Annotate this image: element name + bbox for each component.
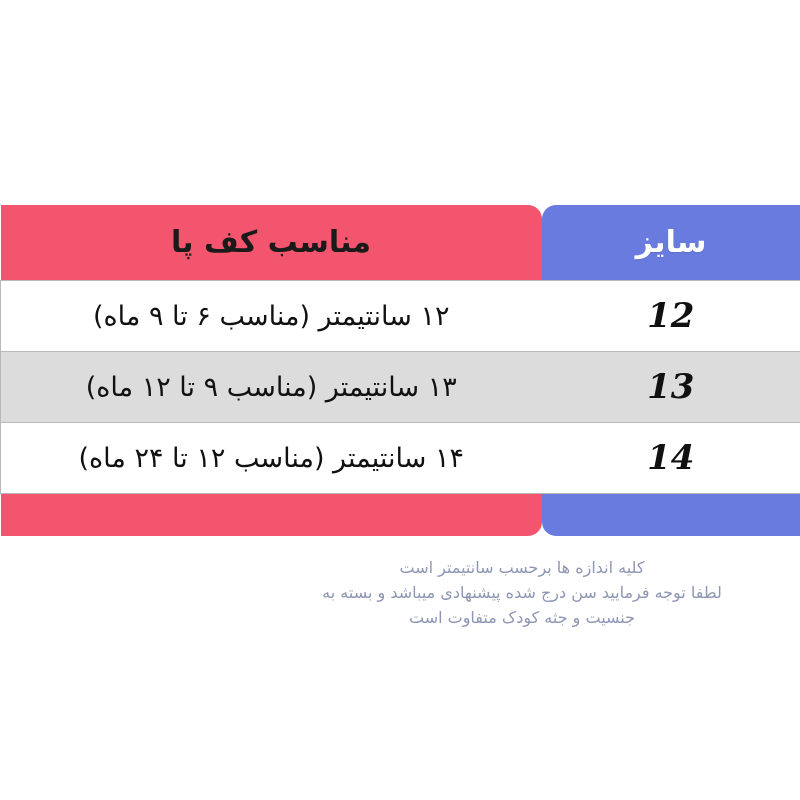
column-header-description: مناسب کف پا	[1, 205, 542, 281]
note-line-1: کلیه اندازه ها برحسب سانتیمتر است	[262, 556, 782, 581]
note-line-2: لطفا توجه فرمایید سن درج شده پیشنهادی می…	[262, 581, 782, 606]
cell-description: ۱۳ سانتیمتر (مناسب ۹ تا ۱۲ ماه)	[1, 352, 542, 423]
table-row: 12 ۱۲ سانتیمتر (مناسب ۶ تا ۹ ماه)	[1, 281, 800, 352]
footer-row	[1, 494, 800, 537]
notes-block: کلیه اندازه ها برحسب سانتیمتر است لطفا ت…	[262, 556, 782, 630]
shoe-size-table: سایز مناسب کف پا 12 ۱۲ سانتیمتر (مناسب ۶…	[0, 205, 800, 536]
cell-size: 13	[542, 352, 800, 423]
column-header-size: سایز	[542, 205, 800, 281]
table-row: 13 ۱۳ سانتیمتر (مناسب ۹ تا ۱۲ ماه)	[1, 352, 800, 423]
table-row: 14 ۱۴ سانتیمتر (مناسب ۱۲ تا ۲۴ ماه)	[1, 423, 800, 494]
table-body: 12 ۱۲ سانتیمتر (مناسب ۶ تا ۹ ماه) 13 ۱۳ …	[1, 281, 800, 494]
header-row: سایز مناسب کف پا	[1, 205, 800, 281]
cell-description: ۱۴ سانتیمتر (مناسب ۱۲ تا ۲۴ ماه)	[1, 423, 542, 494]
footer-bar-size-column	[542, 494, 800, 537]
cell-size: 12	[542, 281, 800, 352]
footer-bar-description-column	[1, 494, 542, 537]
note-line-3: جنسیت و جثه کودک متفاوت است	[262, 606, 782, 631]
cell-size: 14	[542, 423, 800, 494]
table-footer-bar	[1, 494, 800, 537]
table-header: سایز مناسب کف پا	[1, 205, 800, 281]
cell-description: ۱۲ سانتیمتر (مناسب ۶ تا ۹ ماه)	[1, 281, 542, 352]
page-root: سایز مناسب کف پا 12 ۱۲ سانتیمتر (مناسب ۶…	[0, 0, 800, 800]
